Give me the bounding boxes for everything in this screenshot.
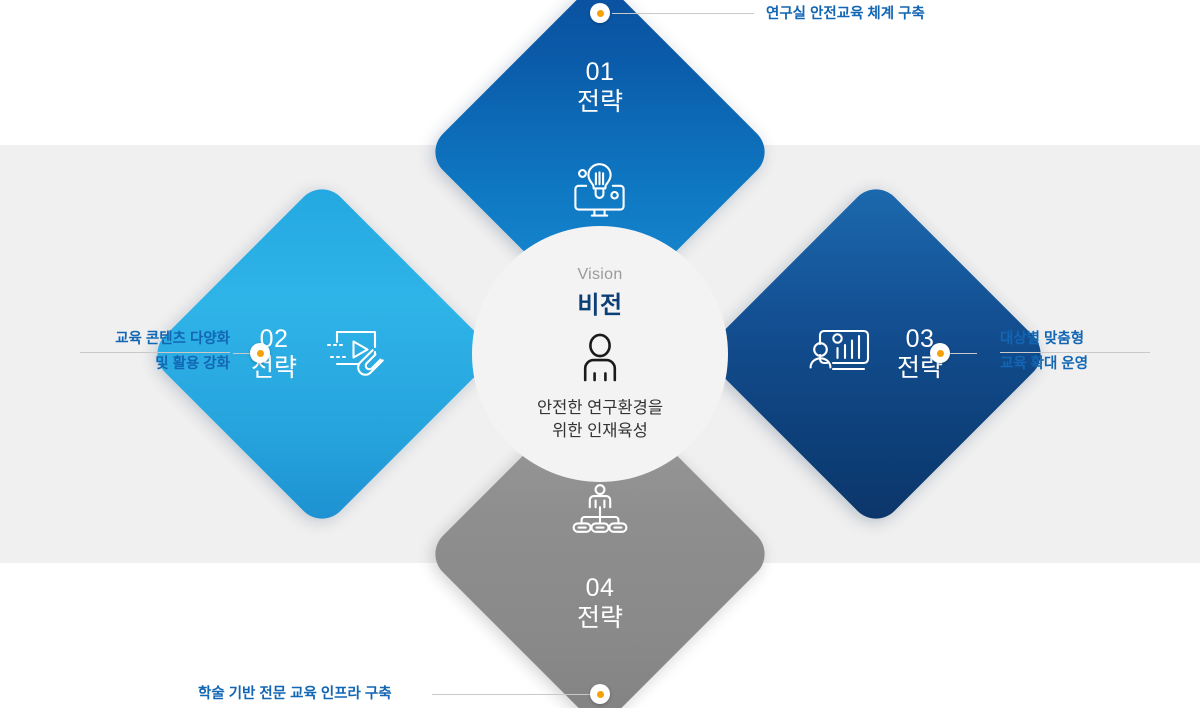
vision-ko-label: 비전 xyxy=(577,285,622,320)
vision-en-label: Vision xyxy=(577,266,622,284)
video-attachment-icon xyxy=(323,324,389,385)
diamond-01-text: 01 전략 xyxy=(577,58,623,117)
caption-02-line1: 교육 콘텐츠 다양화 xyxy=(80,329,230,351)
connector-line-01 xyxy=(612,13,754,14)
connector-dot-04[interactable] xyxy=(590,684,610,704)
connector-line-04 xyxy=(432,694,592,695)
diamond-03-content: 03 전략 xyxy=(752,230,1000,478)
vision-description-line2: 위한 인재육성 xyxy=(552,420,648,442)
caption-03-line2: 교육 확대 운영 xyxy=(1000,354,1150,376)
caption-label-04: 학술 기반 전문 교육 인프라 구축 xyxy=(198,684,392,706)
caption-label-01: 연구실 안전교육 체계 구축 xyxy=(766,4,925,26)
connector-dot-01[interactable] xyxy=(590,3,610,23)
caption-02-line2: 및 활용 강화 xyxy=(80,354,230,376)
caption-02-rule xyxy=(80,352,230,353)
caption-01-line1: 연구실 안전교육 체계 구축 xyxy=(766,4,925,26)
connector-line-03 xyxy=(949,353,977,354)
strategy-01-label: 전략 xyxy=(577,87,623,117)
caption-label-03: 대상별 맞춤형 교육 확대 운영 xyxy=(1000,329,1150,376)
org-chart-icon xyxy=(571,483,629,540)
connector-dot-02[interactable] xyxy=(250,343,270,363)
diamond-04-text: 04 전략 xyxy=(577,574,623,633)
connector-dot-03[interactable] xyxy=(930,343,950,363)
caption-04-line1: 학술 기반 전문 교육 인프라 구축 xyxy=(198,684,392,706)
caption-03-rule xyxy=(1000,352,1150,353)
strategy-04-number: 04 xyxy=(586,574,615,603)
vision-center-circle: Vision 비전 안전한 연구환경을 위한 인재육성 xyxy=(472,226,728,482)
strategy-01-number: 01 xyxy=(586,58,615,87)
presenter-chart-icon xyxy=(809,325,873,384)
diamond-02-content: 02 전략 xyxy=(198,230,446,478)
vision-strategy-diagram: 01 전략 02 전략 xyxy=(0,0,1200,708)
caption-03-line1: 대상별 맞춤형 xyxy=(1000,329,1150,351)
caption-label-02: 교육 콘텐츠 다양화 및 활용 강화 xyxy=(80,329,230,376)
strategy-04-label: 전략 xyxy=(577,603,623,633)
strategy-diamond-03[interactable]: 03 전략 xyxy=(701,179,1052,530)
person-icon xyxy=(573,332,627,391)
monitor-lightbulb-icon xyxy=(569,161,631,224)
vision-description-line1: 안전한 연구환경을 xyxy=(537,397,663,419)
